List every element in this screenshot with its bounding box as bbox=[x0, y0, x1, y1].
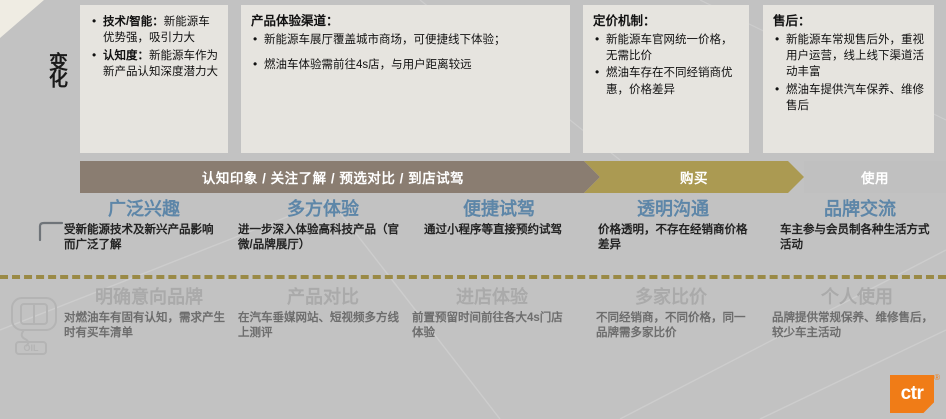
journey-stage-band: 认知印象 / 关注了解 / 预选对比 / 到店试驾 购买 使用 bbox=[80, 161, 946, 193]
fuel-step-title: 多家比价 bbox=[596, 288, 746, 308]
ctr-logo-text: ctr bbox=[890, 375, 934, 413]
ev-journey-row: 广泛兴趣 受新能源技术及新兴产品影响而广泛了解 多方体验 进一步深入体验高科技产… bbox=[0, 200, 946, 270]
insight-box-technology-awareness: 技术/智能：新能源车优势强，吸引力大 认知度：新能源车作为新产品认知深度潜力大 bbox=[80, 5, 228, 153]
fuel-step-personal-usage: 个人使用 品牌提供常规保养、维修售后，较少车主活动 bbox=[772, 288, 942, 342]
ev-step-title: 广泛兴趣 bbox=[64, 200, 224, 220]
fuel-step-title: 进店体验 bbox=[412, 288, 572, 308]
ev-step-desc: 受新能源技术及新兴产品影响而广泛了解 bbox=[64, 223, 224, 254]
insight-box-product-experience-channel: 产品体验渠道： 新能源车展厅覆盖城市商场，可便捷线下体验； 燃油车体验需前往4s… bbox=[241, 5, 570, 153]
fuel-step-desc: 品牌提供常规保养、维修售后，较少车主活动 bbox=[772, 311, 942, 342]
ev-step-convenient-test-drive: 便捷试驾 通过小程序等直接预约试驾 bbox=[424, 200, 574, 238]
ev-step-transparent-communication: 透明沟通 价格透明，不存在经销商价格差异 bbox=[598, 200, 748, 254]
ev-step-title: 透明沟通 bbox=[598, 200, 748, 220]
insight-box-row: 技术/智能：新能源车优势强，吸引力大 认知度：新能源车作为新产品认知深度潜力大 … bbox=[0, 0, 946, 158]
insight-bullet: 技术/智能：新能源车优势强，吸引力大 bbox=[90, 14, 218, 47]
fuel-step-desc: 不同经销商，不同价格，同一品牌需多家比价 bbox=[596, 311, 746, 342]
fuel-step-desc: 在汽车垂媒网站、短视频多方线上测评 bbox=[238, 311, 408, 342]
ev-step-broad-interest: 广泛兴趣 受新能源技术及新兴产品影响而广泛了解 bbox=[64, 200, 224, 254]
slide-canvas: 变化 技术/智能：新能源车优势强，吸引力大 认知度：新能源车作为新产品认知深度潜… bbox=[0, 0, 946, 419]
insight-bullet: 新能源车常规售后外，重视用户运营，线上线下渠道活动丰富 bbox=[773, 32, 924, 81]
fuel-step-clear-brand-intent: 明确意向品牌 对燃油车有固有认知，需求产生时有买车清单 bbox=[64, 288, 234, 342]
fuel-step-product-comparison: 产品对比 在汽车垂媒网站、短视频多方线上测评 bbox=[238, 288, 408, 342]
fuel-step-desc: 对燃油车有固有认知，需求产生时有买车清单 bbox=[64, 311, 234, 342]
ev-step-brand-community: 品牌交流 车主参与会员制各种生活方式活动 bbox=[780, 200, 940, 254]
insight-bullet: 燃油车体验需前往4s店，与用户距离较远 bbox=[251, 57, 560, 73]
ev-step-desc: 价格透明，不存在经销商价格差异 bbox=[598, 223, 748, 254]
ev-step-title: 品牌交流 bbox=[780, 200, 940, 220]
fuel-icon-label: OIL bbox=[24, 343, 40, 353]
stage-chevron-usage[interactable]: 使用 bbox=[804, 161, 946, 193]
fuel-step-multi-dealer-price-compare: 多家比价 不同经销商，不同价格，同一品牌需多家比价 bbox=[596, 288, 746, 342]
ctr-logo: ctr ® bbox=[884, 373, 940, 415]
insight-bullet: 新能源车官网统一价格，无需比价 bbox=[593, 32, 739, 65]
insight-box-heading: 定价机制： bbox=[593, 13, 739, 31]
ev-step-desc: 进一步深入体验高科技产品（官微/品牌展厅） bbox=[238, 223, 408, 254]
ev-step-desc: 通过小程序等直接预约试驾 bbox=[424, 223, 574, 239]
fuel-step-title: 明确意向品牌 bbox=[64, 288, 234, 308]
insight-box-after-sales: 售后： 新能源车常规售后外，重视用户运营，线上线下渠道活动丰富 燃油车提供汽车保… bbox=[763, 5, 934, 153]
bullet-lead: 认知度： bbox=[103, 50, 149, 62]
ev-step-title: 便捷试驾 bbox=[424, 200, 574, 220]
ev-step-desc: 车主参与会员制各种生活方式活动 bbox=[780, 223, 940, 254]
fuel-car-icon: OIL bbox=[8, 294, 64, 356]
registered-mark: ® bbox=[934, 373, 940, 382]
fuel-journey-row: OIL 明确意向品牌 对燃油车有固有认知，需求产生时有买车清单 产品对比 在汽车… bbox=[0, 288, 946, 368]
insight-box-heading: 产品体验渠道： bbox=[251, 13, 560, 31]
insight-box-pricing-mechanism: 定价机制： 新能源车官网统一价格，无需比价 燃油车存在不同经销商优惠，价格差异 bbox=[583, 5, 749, 153]
insight-bullet: 新能源车展厅覆盖城市商场，可便捷线下体验； bbox=[251, 32, 560, 48]
ev-step-title: 多方体验 bbox=[238, 200, 408, 220]
stage-chevron-awareness[interactable]: 认知印象 / 关注了解 / 预选对比 / 到店试驾 bbox=[80, 161, 600, 193]
row-divider bbox=[0, 275, 946, 279]
ev-step-multi-experience: 多方体验 进一步深入体验高科技产品（官微/品牌展厅） bbox=[238, 200, 408, 254]
insight-box-heading: 售后： bbox=[773, 13, 924, 31]
insight-bullet: 燃油车存在不同经销商优惠，价格差异 bbox=[593, 65, 739, 98]
fuel-step-desc: 前置预留时间前往各大4s门店体验 bbox=[412, 311, 572, 342]
bullet-lead: 技术/智能： bbox=[103, 16, 164, 28]
insight-bullet: 燃油车提供汽车保养、维修售后 bbox=[773, 82, 924, 115]
fuel-step-title: 个人使用 bbox=[772, 288, 942, 308]
fuel-step-title: 产品对比 bbox=[238, 288, 408, 308]
stage-chevron-purchase[interactable]: 购买 bbox=[584, 161, 804, 193]
fuel-step-in-store-experience: 进店体验 前置预留时间前往各大4s门店体验 bbox=[412, 288, 572, 342]
insight-bullet: 认知度：新能源车作为新产品认知深度潜力大 bbox=[90, 48, 218, 81]
